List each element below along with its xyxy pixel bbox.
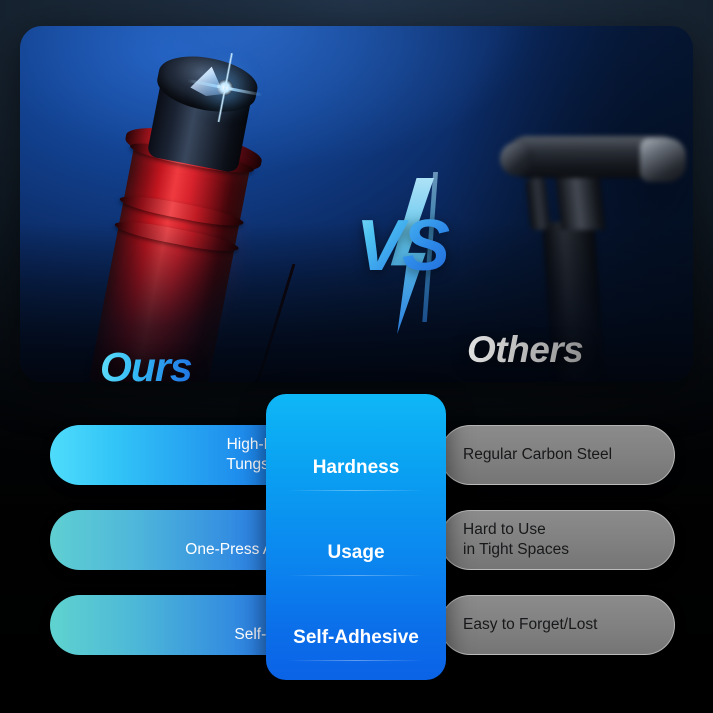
category-divider bbox=[288, 660, 424, 661]
category-label-usage: Usage bbox=[266, 510, 446, 595]
others-feature-text: Hard to Use in Tight Spaces bbox=[463, 520, 569, 560]
comparison-section: High-Hardness Tungsten Steel Regular Car… bbox=[0, 394, 713, 694]
others-feature-line2: in Tight Spaces bbox=[463, 541, 569, 558]
spark-glint-icon bbox=[195, 57, 256, 118]
category-label-self-adhesive: Self-Adhesive bbox=[266, 595, 446, 680]
category-divider bbox=[288, 575, 424, 576]
others-feature-text: Regular Carbon Steel bbox=[463, 445, 612, 465]
category-divider bbox=[288, 490, 424, 491]
ours-label: Ours bbox=[100, 344, 192, 382]
spark-core bbox=[216, 78, 235, 97]
others-feature-line1: Hard to Use bbox=[463, 521, 546, 538]
others-head-left-cap bbox=[500, 142, 534, 176]
others-feature-text: Easy to Forget/Lost bbox=[463, 615, 597, 635]
category-card: Hardness Usage Self-Adhesive bbox=[266, 394, 446, 680]
others-head-right-cap bbox=[640, 138, 686, 182]
others-label: Others bbox=[467, 329, 583, 371]
page-background: VS Ours Others High-Hardness Tungsten St… bbox=[0, 0, 713, 713]
others-feature-pill: Easy to Forget/Lost bbox=[440, 595, 675, 655]
others-feature-pill: Hard to Use in Tight Spaces bbox=[440, 510, 675, 570]
category-label-hardness: Hardness bbox=[266, 425, 446, 510]
others-feature-pill: Regular Carbon Steel bbox=[440, 425, 675, 485]
others-feature-line1: Easy to Forget/Lost bbox=[463, 616, 597, 633]
hero-banner: VS Ours Others bbox=[20, 26, 693, 382]
vs-graphic: VS bbox=[338, 196, 466, 316]
vs-label: VS bbox=[338, 210, 466, 282]
others-feature-line1: Regular Carbon Steel bbox=[463, 446, 612, 463]
